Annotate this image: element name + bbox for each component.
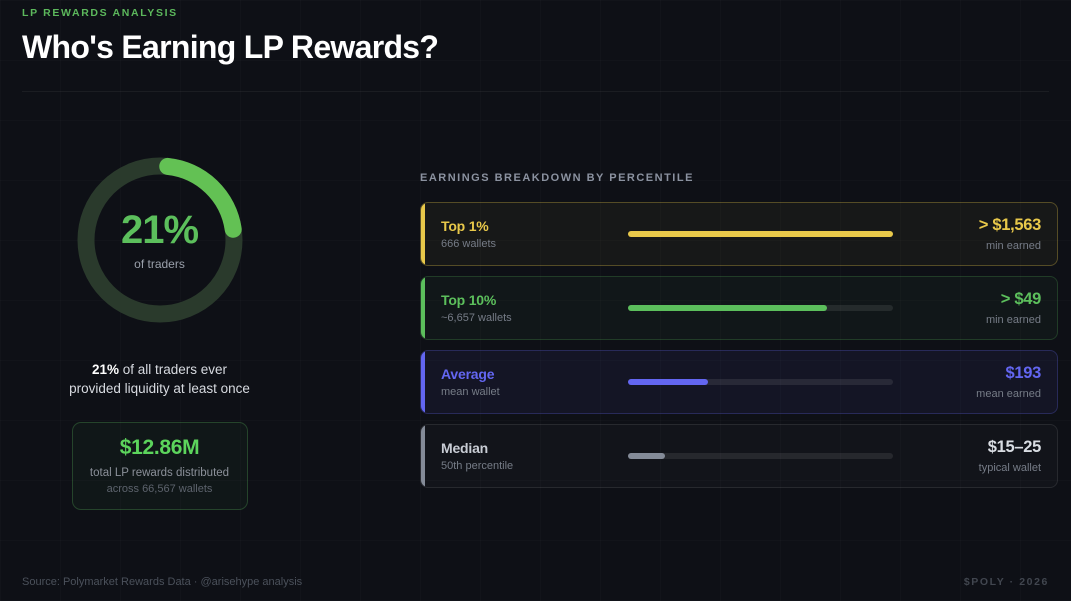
breakdown-row[interactable]: Top 10%~6,657 wallets> $49min earned <box>420 276 1058 340</box>
donut-percent: 21% <box>121 210 198 250</box>
row-sublabel: 666 wallets <box>441 238 606 250</box>
row-amount: > $49 <box>915 290 1041 309</box>
total-rewards-note: across 66,567 wallets <box>83 483 237 495</box>
breakdown-panel: EARNINGS BREAKDOWN BY PERCENTILE Top 1%6… <box>420 172 1058 498</box>
total-rewards-card: $12.86M total LP rewards distributed acr… <box>72 422 248 510</box>
footer-brand: $POLY · 2026 <box>964 576 1049 588</box>
bar-fill <box>628 231 893 237</box>
footer-source: Source: Polymarket Rewards Data · @arise… <box>22 576 302 588</box>
summary-highlight: 21% <box>92 362 119 377</box>
row-label-group: Top 10%~6,657 wallets <box>441 292 606 324</box>
row-name: Average <box>441 366 606 382</box>
breakdown-row[interactable]: Median50th percentile$15–25typical walle… <box>420 424 1058 488</box>
row-label-group: Averagemean wallet <box>441 366 606 398</box>
row-sublabel: 50th percentile <box>441 460 606 472</box>
page-title: Who's Earning LP Rewards? <box>22 29 1049 66</box>
row-bar <box>606 379 915 385</box>
donut-sublabel: of traders <box>134 257 185 271</box>
bar-track <box>628 305 893 311</box>
bar-track <box>628 453 893 459</box>
total-rewards-value: $12.86M <box>83 436 237 460</box>
breakdown-section-title: EARNINGS BREAKDOWN BY PERCENTILE <box>420 172 1058 184</box>
donut-chart: 21% of traders <box>70 150 250 330</box>
row-accent-bar <box>421 203 425 265</box>
row-name: Top 1% <box>441 218 606 234</box>
total-rewards-label: total LP rewards distributed <box>83 467 237 479</box>
row-caption: min earned <box>915 314 1041 326</box>
row-accent-bar <box>421 277 425 339</box>
bar-track <box>628 379 893 385</box>
row-bar <box>606 453 915 459</box>
row-accent-bar <box>421 425 425 487</box>
row-bar <box>606 231 915 237</box>
row-amount: > $1,563 <box>915 216 1041 235</box>
bar-fill <box>628 305 827 311</box>
breakdown-row[interactable]: Averagemean wallet$193mean earned <box>420 350 1058 414</box>
row-amount: $15–25 <box>915 438 1041 457</box>
breakdown-row[interactable]: Top 1%666 wallets> $1,563min earned <box>420 202 1058 266</box>
eyebrow-label: LP REWARDS ANALYSIS <box>22 7 1049 19</box>
infographic-root: LP REWARDS ANALYSIS Who's Earning LP Rew… <box>0 0 1071 601</box>
row-bar <box>606 305 915 311</box>
header-divider <box>22 91 1049 92</box>
row-value-group: > $49min earned <box>915 290 1041 326</box>
summary-text: 21% of all traders ever provided liquidi… <box>30 360 290 398</box>
row-amount: $193 <box>915 364 1041 383</box>
left-column: 21% of traders 21% of all traders ever p… <box>22 150 297 510</box>
row-accent-bar <box>421 351 425 413</box>
row-label-group: Top 1%666 wallets <box>441 218 606 250</box>
row-name: Median <box>441 440 606 456</box>
summary-line2: provided liquidity at least once <box>69 381 250 396</box>
breakdown-row-list: Top 1%666 wallets> $1,563min earnedTop 1… <box>420 202 1058 488</box>
summary-line1: of all traders ever <box>119 362 227 377</box>
donut-center-labels: 21% of traders <box>70 150 250 330</box>
row-name: Top 10% <box>441 292 606 308</box>
bar-fill <box>628 379 708 385</box>
row-value-group: $15–25typical wallet <box>915 438 1041 474</box>
row-value-group: > $1,563min earned <box>915 216 1041 252</box>
row-caption: mean earned <box>915 388 1041 400</box>
bar-track <box>628 231 893 237</box>
row-label-group: Median50th percentile <box>441 440 606 472</box>
row-caption: typical wallet <box>915 462 1041 474</box>
page-footer: Source: Polymarket Rewards Data · @arise… <box>22 576 1049 588</box>
page-header: LP REWARDS ANALYSIS Who's Earning LP Rew… <box>22 7 1049 66</box>
row-caption: min earned <box>915 240 1041 252</box>
row-sublabel: mean wallet <box>441 386 606 398</box>
bar-fill <box>628 453 665 459</box>
row-value-group: $193mean earned <box>915 364 1041 400</box>
row-sublabel: ~6,657 wallets <box>441 312 606 324</box>
